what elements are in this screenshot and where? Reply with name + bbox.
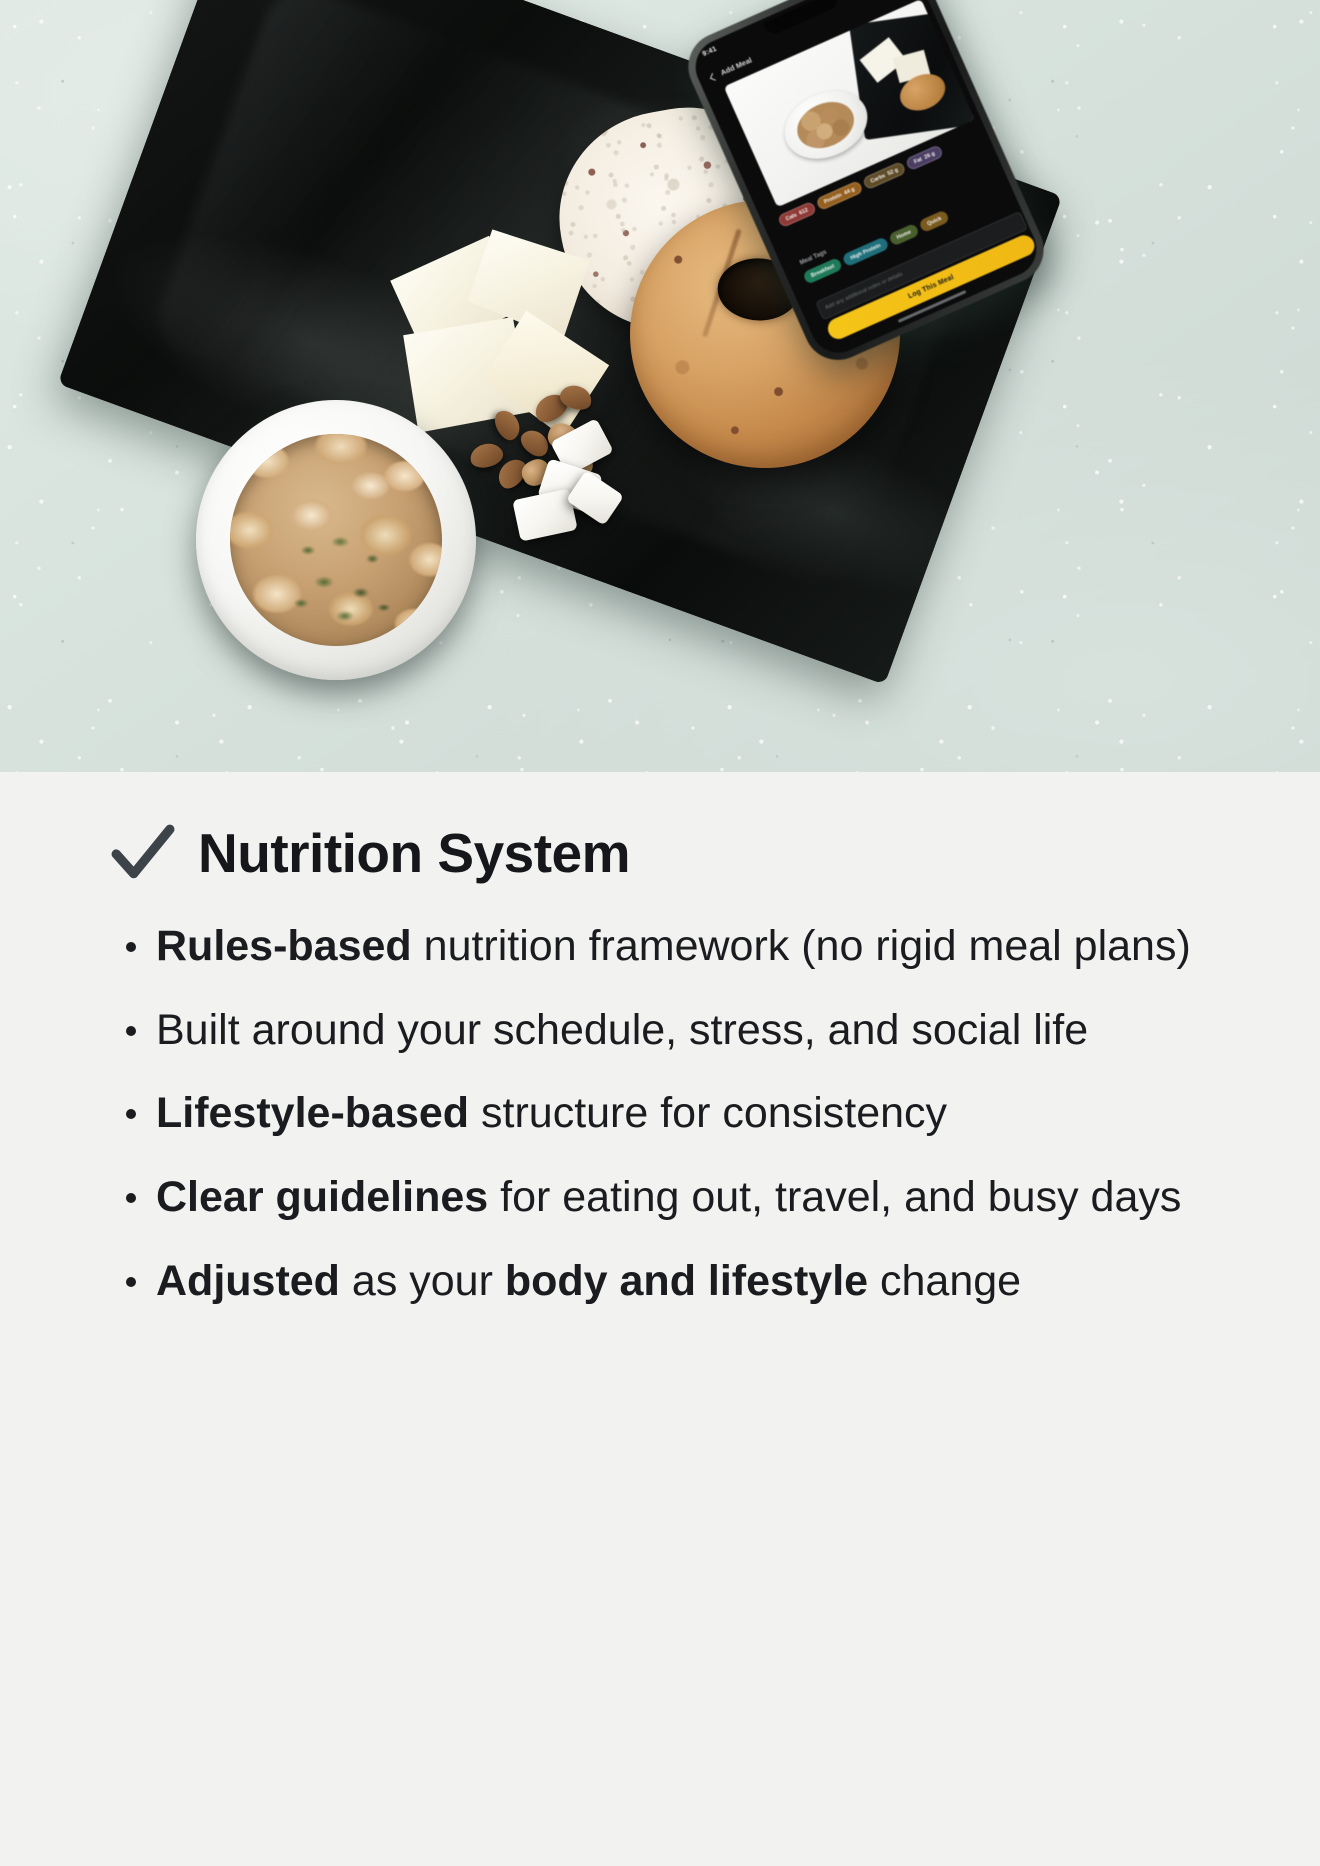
hero-photo: 9:41 Add Meal (0, 0, 1320, 772)
macro-label: Fat (913, 156, 923, 165)
macro-value: 44 g (843, 186, 856, 196)
panel-heading: Nutrition System (110, 820, 1250, 886)
bullet-text: nutrition framework (no rigid meal plans… (412, 922, 1191, 970)
check-icon (110, 820, 176, 886)
macro-value: 612 (798, 207, 809, 216)
bullet-text: Built around your schedule, stress, and … (156, 1006, 1088, 1054)
feature-bullet-item: Rules-based nutrition framework (no rigi… (110, 912, 1230, 982)
bowl-contents (230, 434, 442, 646)
tag-pill-quick[interactable]: Quick (918, 209, 950, 233)
macro-pill-fat[interactable]: Fat 26 g (905, 144, 943, 171)
green-herb-garnish (285, 527, 399, 633)
bullet-text: as your (340, 1257, 505, 1305)
bullet-emphasis-text: body and lifestyle (505, 1257, 868, 1305)
macro-pill-calories[interactable]: Cals 612 (777, 201, 817, 228)
feature-bullet-item: Built around your schedule, stress, and … (110, 996, 1230, 1066)
bullet-text: structure for consistency (469, 1089, 947, 1137)
feature-bullet-item: Lifestyle-based structure for consistenc… (110, 1079, 1230, 1149)
feature-bullet-item: Adjusted as your body and lifestyle chan… (110, 1247, 1230, 1317)
bullet-text: change (868, 1257, 1021, 1305)
tag-pill-high-protein[interactable]: High Protein (842, 236, 890, 267)
feature-bullet-list: Rules-based nutrition framework (no rigi… (110, 912, 1250, 1316)
bullet-emphasis-text: Adjusted (156, 1257, 340, 1305)
back-chevron-icon[interactable] (710, 73, 718, 81)
tag-pill-home[interactable]: Home (888, 223, 920, 247)
macro-label: Carbs (870, 173, 887, 185)
macro-label: Protein (823, 192, 843, 205)
nutrition-system-card: 9:41 Add Meal (0, 0, 1320, 1866)
food-bowl (196, 400, 476, 680)
status-bar-time: 9:41 (702, 46, 721, 65)
bullet-emphasis-text: Rules-based (156, 922, 412, 970)
macro-value: 52 g (887, 167, 900, 177)
feature-bullet-item: Clear guidelines for eating out, travel,… (110, 1163, 1230, 1233)
page-title: Nutrition System (198, 826, 630, 881)
content-panel: Nutrition System Rules-based nutrition f… (0, 772, 1320, 1866)
macro-label: Cals (785, 212, 798, 222)
bullet-emphasis-text: Lifestyle-based (156, 1089, 469, 1137)
app-nav-title: Add Meal (719, 55, 753, 77)
bullet-text: for eating out, travel, and busy days (488, 1173, 1181, 1221)
macro-value: 26 g (923, 150, 936, 160)
bullet-emphasis-text: Clear guidelines (156, 1173, 488, 1221)
